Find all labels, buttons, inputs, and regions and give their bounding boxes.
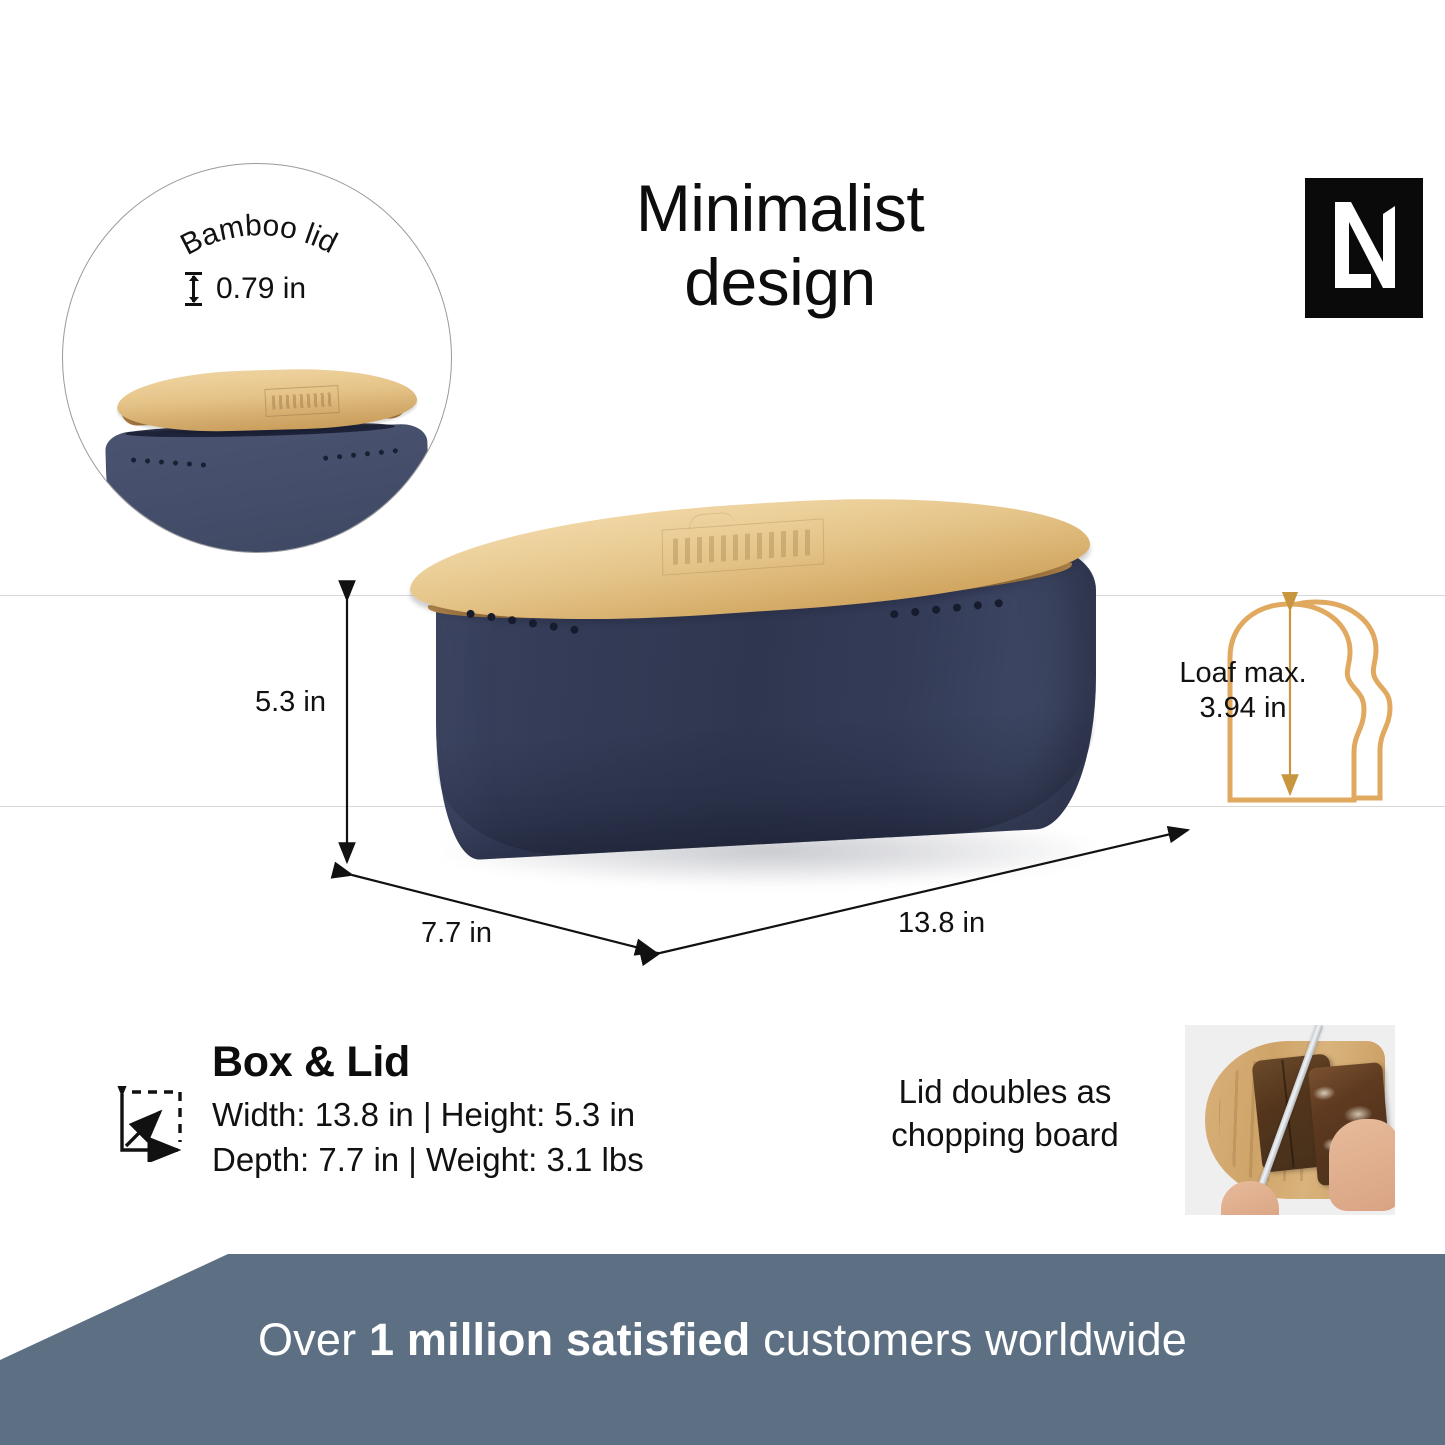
loaf-max-line2: 3.94 in xyxy=(1148,691,1338,726)
mini-box-body xyxy=(105,424,431,553)
bottom-banner: Over 1 million satisfied customers world… xyxy=(0,1254,1445,1445)
chopping-board-label: Lid doubles as chopping board xyxy=(855,1071,1155,1157)
infographic-canvas: Minimalist design Bamboo lid 0.79 xyxy=(0,0,1445,1445)
page-title-line1: Minimalist xyxy=(520,172,1040,246)
specs-line-2: Depth: 7.7 in | Weight: 3.1 lbs xyxy=(212,1138,644,1183)
bamboo-lid-closeup-image xyxy=(91,360,441,553)
bamboo-lid-callout: Bamboo lid 0.79 in xyxy=(62,163,452,553)
bamboo-lid-label: Bamboo lid xyxy=(175,209,342,262)
svg-text:Bamboo lid: Bamboo lid xyxy=(175,209,342,262)
banner-prefix: Over xyxy=(258,1314,369,1365)
banner-text: Over 1 million satisfied customers world… xyxy=(0,1314,1445,1366)
page-title-line2: design xyxy=(520,246,1040,320)
specs-block: Box & Lid Width: 13.8 in | Height: 5.3 i… xyxy=(110,1038,770,1183)
specs-line-1: Width: 13.8 in | Height: 5.3 in xyxy=(212,1093,644,1138)
width-dimension-label: 13.8 in xyxy=(898,907,985,940)
specs-text: Box & Lid Width: 13.8 in | Height: 5.3 i… xyxy=(212,1038,644,1183)
mini-lid-engraving xyxy=(264,385,339,417)
specs-heading: Box & Lid xyxy=(212,1038,644,1087)
chopping-board-feature: Lid doubles as chopping board xyxy=(855,1025,1395,1225)
thickness-arrow-icon xyxy=(185,272,202,306)
product-image xyxy=(410,498,1130,898)
loaf-max-line1: Loaf max. xyxy=(1148,656,1338,691)
depth-dimension-label: 7.7 in xyxy=(421,917,492,950)
hand-holding-loaf xyxy=(1329,1119,1395,1211)
loaf-max-label: Loaf max. 3.94 in xyxy=(1148,656,1338,727)
banner-highlight: 1 million satisfied xyxy=(369,1314,750,1365)
chopping-board-line1: Lid doubles as xyxy=(855,1071,1155,1114)
brand-logo-n-icon xyxy=(1327,200,1401,296)
brand-logo xyxy=(1305,178,1423,318)
chopping-board-line2: chopping board xyxy=(855,1114,1155,1157)
banner-suffix: customers worldwide xyxy=(750,1314,1187,1365)
bread-cutting-photo xyxy=(1185,1025,1395,1215)
dimensions-icon xyxy=(110,1086,186,1162)
lid-thickness-measure: 0.79 in xyxy=(185,272,306,306)
height-dimension-label: 5.3 in xyxy=(255,686,326,719)
loaf-max-callout: Loaf max. 3.94 in xyxy=(1172,592,1402,810)
page-title: Minimalist design xyxy=(520,172,1040,320)
lid-thickness-value: 0.79 in xyxy=(216,272,306,306)
